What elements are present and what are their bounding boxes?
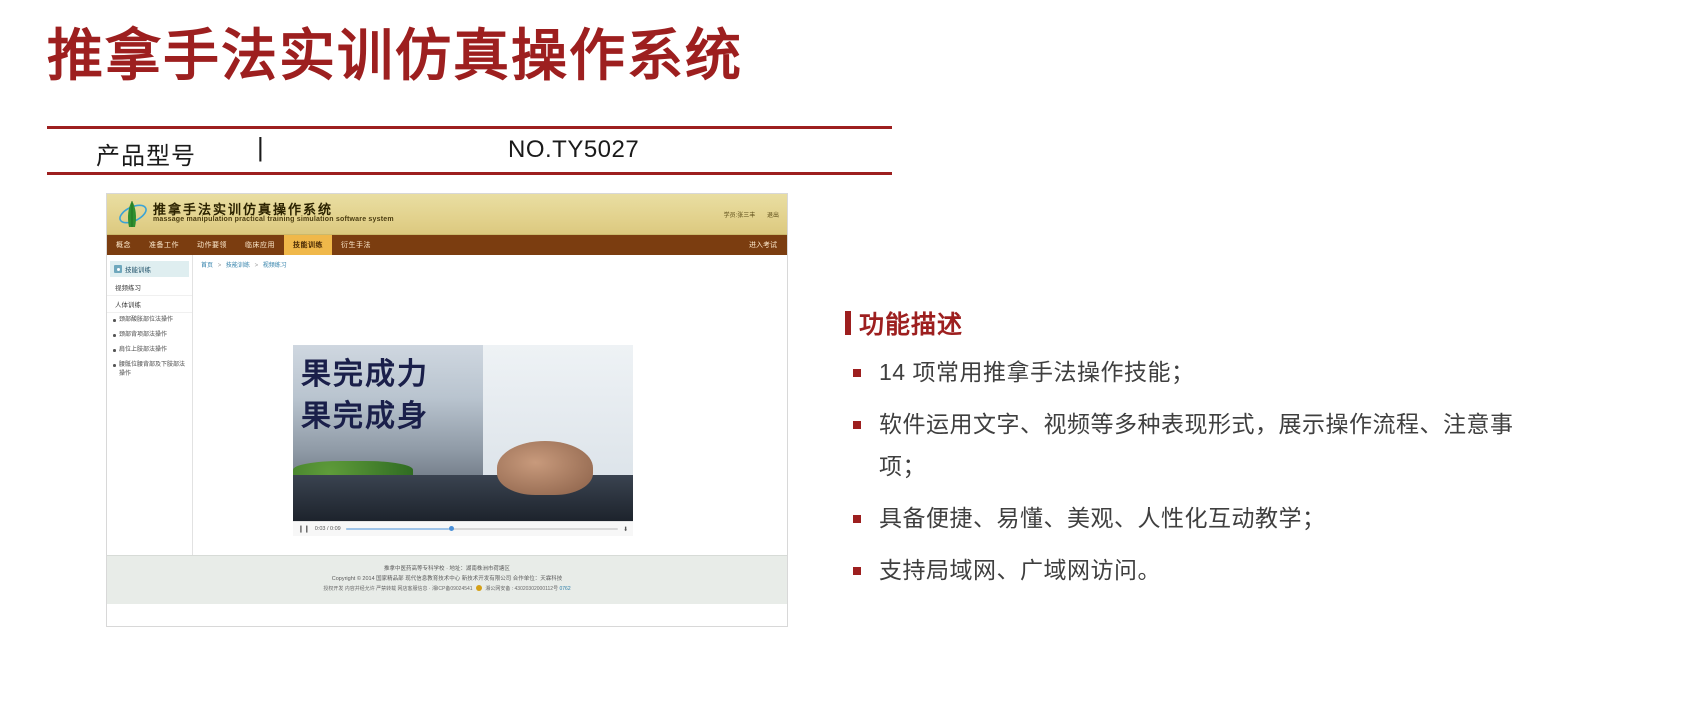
list-item: 14 项常用推拿手法操作技能； [845, 351, 1545, 393]
footer-line-3a: 授权开发 内容并经允许 严禁转载 网店客服信息 · 湘ICP备09024541 [323, 586, 472, 592]
video-progress-knob[interactable] [449, 526, 454, 531]
breadcrumb-separator-2: > [255, 263, 259, 269]
software-screenshot: 推拿手法实训仿真操作系统 massage manipulation practi… [106, 193, 788, 627]
monitor-icon [114, 265, 122, 273]
sidebar-item-body-training[interactable]: 人体训练 [107, 296, 192, 313]
list-item: 具备便捷、易懂、美观、人性化互动教学； [845, 497, 1545, 539]
video-progress-fill [346, 528, 449, 530]
leaf-orbit-logo-icon [117, 198, 149, 230]
nav-item-zhunbeigongzuo[interactable]: 准备工作 [140, 235, 188, 255]
product-datasheet-page: 推拿手法实训仿真操作系统 产品型号 | NO.TY5027 推拿手法实训仿真操作… [0, 0, 1700, 714]
footer-line-3b: 湘公网安备 : 43020302000112号 [485, 586, 558, 592]
seal-icon [476, 585, 482, 591]
user-info: 学员:张三丰 退出 [714, 210, 779, 219]
breadcrumb-level2: 视频练习 [263, 263, 287, 269]
nav-item-gainian[interactable]: 概念 [107, 235, 140, 255]
pause-icon[interactable]: ❙❙ [298, 526, 310, 533]
user-label: 学员:张三丰 [724, 213, 756, 219]
sidebar-bullet-1[interactable]: 颈部酸胀部位法操作 [107, 313, 192, 328]
footer-line-3: 授权开发 内容并经允许 严禁转载 网店客服信息 · 湘ICP备09024541 … [107, 584, 787, 594]
footer-line-2: Copyright © 2014 国家精品部 现代信息教育技术中心 新技术开发有… [107, 574, 787, 584]
feature-heading: 功能描述 [859, 305, 963, 341]
breadcrumb-home[interactable]: 首页 [201, 263, 213, 269]
nav-enter-exam-button[interactable]: 进入考试 [739, 235, 787, 255]
model-rule-top [47, 126, 892, 129]
page-title: 推拿手法实训仿真操作系统 [47, 25, 743, 89]
app-nav: 概念 准备工作 动作要领 临床应用 技能训练 衍生手法 进入考试 [107, 235, 787, 255]
feature-heading-row: 功能描述 [845, 305, 1545, 341]
sidebar-bullet-2[interactable]: 颈部背项部法操作 [107, 328, 192, 343]
model-label: 产品型号 [96, 136, 196, 171]
app-header: 推拿手法实训仿真操作系统 massage manipulation practi… [107, 194, 787, 235]
footer-tag: 0762 [559, 586, 570, 592]
nav-item-jinengxunlian[interactable]: 技能训练 [284, 235, 332, 255]
breadcrumb-separator-1: > [218, 263, 222, 269]
sidebar-item-video-practice[interactable]: 视频练习 [107, 279, 192, 296]
breadcrumb: 首页 > 技能训练 > 视频练习 [193, 255, 787, 274]
sidebar-header[interactable]: 技能训练 [110, 261, 189, 277]
app-content: 首页 > 技能训练 > 视频练习 果完成力 果完成身 [193, 255, 787, 555]
model-rule-bottom [47, 172, 892, 175]
list-item: 软件运用文字、视频等多种表现形式，展示操作流程、注意事项； [845, 403, 1545, 487]
video-time: 0:03 / 0:09 [315, 526, 341, 532]
app-body: 技能训练 视频练习 人体训练 颈部酸胀部位法操作 颈部背项部法操作 肩位上肢部法… [107, 255, 787, 555]
app-sidebar: 技能训练 视频练习 人体训练 颈部酸胀部位法操作 颈部背项部法操作 肩位上肢部法… [107, 255, 193, 555]
nav-item-dongzuoyaoling[interactable]: 动作要领 [188, 235, 236, 255]
sidebar-bullet-3[interactable]: 肩位上肢部法操作 [107, 343, 192, 358]
logout-link[interactable]: 退出 [767, 213, 779, 219]
breadcrumb-level1[interactable]: 技能训练 [226, 263, 250, 269]
footer-line-1: 推拿中医药高等专科学校 · 地址：湖南株洲市荷塘区 [107, 564, 787, 574]
video-overlay-line1: 果完成力 [301, 349, 429, 393]
sidebar-bullet-4[interactable]: 腰骶位腰背部及下肢部法操作 [107, 358, 192, 382]
nav-spacer [380, 235, 739, 255]
video-progress-bar[interactable] [346, 528, 618, 530]
list-item: 支持局域网、广域网访问。 [845, 549, 1545, 591]
video-overlay-line2: 果完成身 [301, 391, 429, 435]
video-frame[interactable]: 果完成力 果完成身 [293, 345, 633, 521]
model-separator: | [257, 132, 264, 163]
video-hand-shape [497, 441, 593, 495]
sidebar-header-label: 技能训练 [125, 264, 151, 274]
feature-accent-bar [845, 311, 851, 335]
nav-item-linchuangyingyong[interactable]: 临床应用 [236, 235, 284, 255]
nav-item-yanshengshoufa[interactable]: 衍生手法 [332, 235, 380, 255]
video-controls: ❙❙ 0:03 / 0:09 ⬇ [293, 521, 633, 536]
model-value: NO.TY5027 [508, 136, 639, 164]
feature-panel: 功能描述 14 项常用推拿手法操作技能； 软件运用文字、视频等多种表现形式，展示… [845, 305, 1545, 601]
app-footer: 推拿中医药高等专科学校 · 地址：湖南株洲市荷塘区 Copyright © 20… [107, 555, 787, 604]
feature-list: 14 项常用推拿手法操作技能； 软件运用文字、视频等多种表现形式，展示操作流程、… [845, 351, 1545, 591]
download-icon[interactable]: ⬇ [623, 526, 628, 533]
video-player[interactable]: 果完成力 果完成身 ❙❙ 0:03 / 0:09 ⬇ [293, 345, 633, 535]
app-subtitle: massage manipulation practical training … [153, 216, 394, 223]
